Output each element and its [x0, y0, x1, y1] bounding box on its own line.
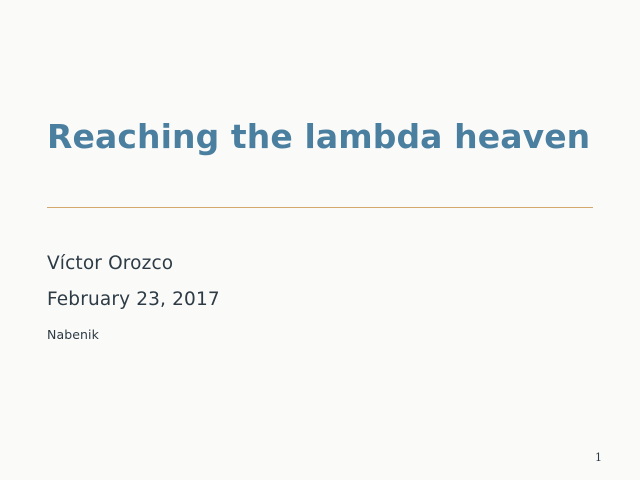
institute-name: Nabenik — [47, 329, 593, 342]
author-name: Víctor Orozco — [47, 255, 593, 274]
title-block: Reaching the lambda heaven — [47, 118, 593, 157]
presentation-date: February 23, 2017 — [47, 291, 593, 310]
page-number: 1 — [595, 451, 602, 464]
page-title: Reaching the lambda heaven — [47, 118, 593, 157]
author-meta-block: Víctor Orozco February 23, 2017 Nabenik — [47, 255, 593, 342]
title-divider-rule — [47, 207, 593, 208]
title-slide: Reaching the lambda heaven Víctor Orozco… — [0, 0, 640, 480]
